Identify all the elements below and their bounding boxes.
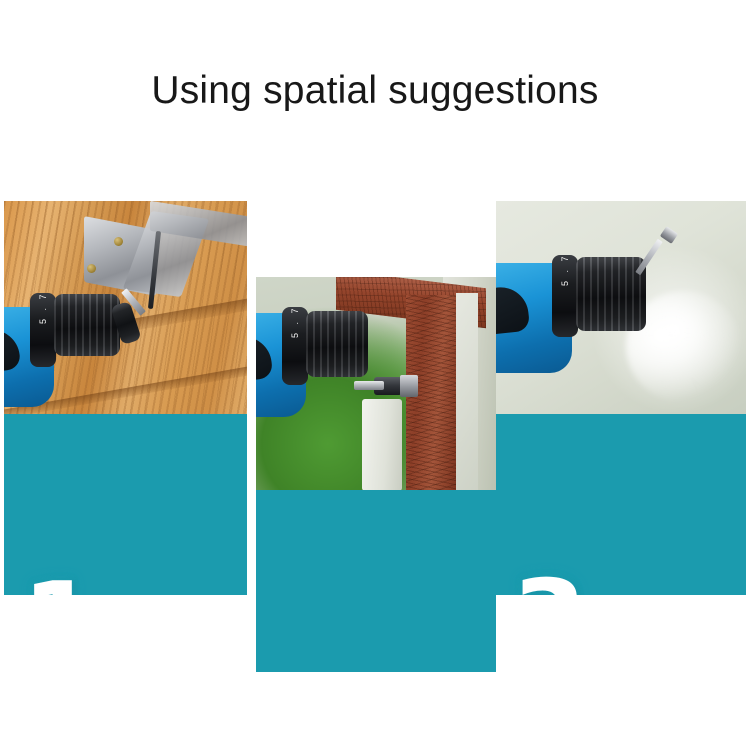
step-card-2[interactable]: 5 . 7 . 9 . 11 2 Dismounting nut Remove … [256, 277, 496, 672]
step-3-number: 3 [512, 567, 587, 595]
step-1-photo: 5 . 7 . 9 . 11 [4, 201, 247, 415]
frame-inner-wall [456, 293, 478, 491]
step-card-1[interactable]: 5 . 7 . 9 . 11 1 Screw Home angle lock c… [4, 201, 247, 595]
collar-markings: 5 . 7 . 9 . 11 [290, 312, 300, 338]
step-card-3[interactable]: 5 . 7 . 9 . 11 3 Drill Mold equipment ma… [496, 201, 746, 595]
photo-art-screw-bracket: 5 . 7 . 9 . 11 [4, 201, 247, 415]
planter-pot [362, 399, 402, 491]
step-2-text-band [256, 490, 496, 672]
bracket-screw [114, 237, 123, 246]
drill-chuck [306, 311, 368, 377]
collar-markings: 5 . 7 . 9 . 11 [38, 298, 48, 324]
bracket-screw [87, 264, 96, 273]
step-1-number: 1 [22, 569, 97, 595]
drill-torque-collar: 5 . 7 . 9 . 11 [552, 255, 578, 337]
page-title: Using spatial suggestions [0, 68, 750, 114]
bolt-shaft [354, 381, 384, 390]
promo-banner: Using spatial suggestions 5 . 7 . 9 . 11 [0, 0, 750, 750]
collar-markings: 5 . 7 . 9 . 11 [560, 260, 570, 286]
photo-art-wall-drilling: 5 . 7 . 9 . 11 [496, 201, 746, 415]
drill-torque-collar: 5 . 7 . 9 . 11 [282, 307, 308, 385]
drill-torque-collar: 5 . 7 . 9 . 11 [30, 293, 56, 367]
step-2-photo: 5 . 7 . 9 . 11 [256, 277, 496, 491]
hex-nut [400, 375, 418, 397]
photo-art-nut-removal: 5 . 7 . 9 . 11 [256, 277, 496, 491]
drill-chuck [576, 257, 646, 331]
step-3-photo: 5 . 7 . 9 . 11 [496, 201, 746, 415]
drill-chuck [54, 294, 120, 356]
